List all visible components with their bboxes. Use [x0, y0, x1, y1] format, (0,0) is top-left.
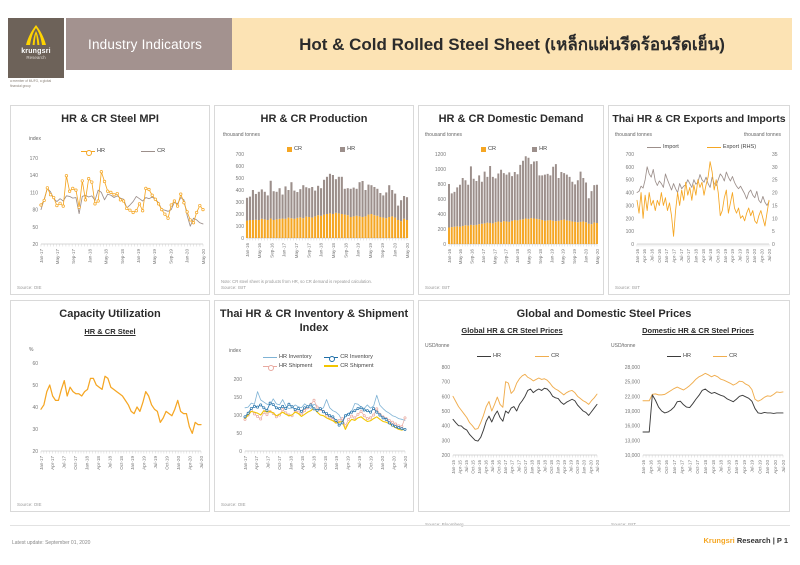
plot-area-capacity: 2030405060Jan-17Apr-17Jul-17Oct-17Jan-18… — [11, 301, 211, 513]
panel-prices: Global and Domestic Steel Prices Global … — [418, 300, 790, 512]
svg-text:500: 500 — [442, 409, 451, 415]
svg-text:Sep-16: Sep-16 — [269, 243, 274, 258]
svg-text:Jan-19: Jan-19 — [136, 249, 141, 263]
panel-mpi: HR & CR Steel MPI index HR CR 2050801101… — [10, 105, 210, 295]
svg-text:25,000: 25,000 — [625, 380, 641, 386]
svg-text:Oct-19: Oct-19 — [757, 460, 762, 474]
svg-text:Apr-18: Apr-18 — [711, 460, 716, 474]
svg-text:Jul-20: Jul-20 — [199, 456, 204, 469]
svg-text:30: 30 — [772, 165, 778, 171]
svg-text:Apr-18: Apr-18 — [300, 456, 305, 470]
svg-text:Jan-17: Jan-17 — [243, 456, 248, 470]
svg-text:Jan-19: Jan-19 — [356, 243, 361, 257]
svg-text:Jan-20: Jan-20 — [582, 460, 587, 474]
svg-text:Jul-20: Jul-20 — [767, 249, 772, 262]
svg-text:Jul-19: Jul-19 — [153, 456, 158, 469]
svg-text:Apr-18: Apr-18 — [701, 249, 706, 263]
svg-text:Jul-18: Jul-18 — [107, 456, 112, 469]
svg-text:Oct-17: Oct-17 — [695, 460, 700, 474]
panel-trade: Thai HR & CR Exports and Imports thousan… — [608, 105, 790, 295]
svg-text:May-20: May-20 — [201, 249, 206, 265]
svg-text:Sep-17: Sep-17 — [504, 249, 509, 264]
svg-text:Jan-16: Jan-16 — [641, 460, 646, 474]
section-label: Industry Indicators — [66, 18, 232, 70]
svg-text:Oct-19: Oct-19 — [165, 456, 170, 470]
source-trade: Source: ISIT — [615, 285, 640, 290]
svg-text:Apr-19: Apr-19 — [562, 460, 567, 474]
svg-text:Jan-19: Jan-19 — [334, 456, 339, 470]
svg-text:Apr-20: Apr-20 — [773, 460, 778, 474]
svg-text:600: 600 — [626, 165, 635, 171]
svg-text:Oct-15: Oct-15 — [470, 460, 475, 474]
svg-text:Apr-20: Apr-20 — [759, 249, 764, 263]
svg-text:80: 80 — [32, 208, 38, 214]
svg-text:50: 50 — [32, 225, 38, 231]
svg-text:May-20: May-20 — [405, 243, 410, 259]
plot-area-inventory: 050100150200Jan-17Apr-17Jul-17Oct-17Jan-… — [215, 301, 415, 513]
svg-text:600: 600 — [236, 164, 245, 170]
plot-area-production: 0100200300400500600700Jan-16May-16Sep-16… — [215, 106, 415, 296]
svg-text:100: 100 — [626, 229, 635, 235]
svg-text:Apr-18: Apr-18 — [536, 460, 541, 474]
svg-text:28,000: 28,000 — [625, 365, 641, 371]
svg-text:Jul-20: Jul-20 — [403, 456, 408, 469]
svg-text:19,000: 19,000 — [625, 409, 641, 415]
svg-text:Oct-18: Oct-18 — [323, 456, 328, 470]
svg-text:Jul-17: Jul-17 — [516, 460, 521, 473]
svg-text:Jan-18: Jan-18 — [289, 456, 294, 470]
svg-text:35: 35 — [772, 152, 778, 158]
svg-text:Jul-18: Jul-18 — [542, 460, 547, 473]
svg-text:Jul-17: Jul-17 — [679, 249, 684, 262]
svg-text:700: 700 — [442, 380, 451, 386]
svg-text:Oct-18: Oct-18 — [726, 460, 731, 474]
latest-update-text: Latest update: September 01, 2020 — [12, 540, 90, 546]
svg-text:25: 25 — [772, 178, 778, 184]
svg-text:20: 20 — [32, 242, 38, 248]
svg-text:Jan-17: Jan-17 — [481, 249, 486, 263]
svg-text:Apr-19: Apr-19 — [142, 456, 147, 470]
svg-text:500: 500 — [626, 178, 635, 184]
svg-text:150: 150 — [234, 395, 243, 401]
svg-text:May-20: May-20 — [595, 249, 600, 265]
svg-text:Jan-20: Jan-20 — [583, 249, 588, 263]
footer-brand: Krungsri Research | P 1 — [703, 536, 788, 545]
svg-text:Sep-18: Sep-18 — [120, 249, 125, 264]
svg-text:400: 400 — [236, 188, 245, 194]
svg-text:Oct-19: Oct-19 — [369, 456, 374, 470]
svg-text:Oct-16: Oct-16 — [657, 249, 662, 263]
svg-text:Oct-18: Oct-18 — [119, 456, 124, 470]
svg-text:Jan-19: Jan-19 — [130, 456, 135, 470]
svg-text:Jan-19: Jan-19 — [556, 460, 561, 474]
svg-text:Jan-20: Jan-20 — [176, 456, 181, 470]
svg-text:Jul-18: Jul-18 — [719, 460, 724, 473]
source-production: Source: ISIT — [221, 285, 246, 290]
svg-text:Oct-19: Oct-19 — [745, 249, 750, 263]
svg-text:20: 20 — [772, 191, 778, 197]
footer-brand-rest: Research | P 1 — [735, 536, 788, 545]
source-capacity: Source: OIE — [17, 502, 42, 507]
svg-text:1000: 1000 — [435, 167, 446, 173]
svg-text:Oct-19: Oct-19 — [575, 460, 580, 474]
svg-text:Jul-15: Jul-15 — [464, 460, 469, 473]
svg-text:Jan-17: Jan-17 — [39, 456, 44, 470]
svg-text:800: 800 — [438, 182, 447, 188]
svg-text:Sep-17: Sep-17 — [306, 243, 311, 258]
svg-text:Jan-17: Jan-17 — [672, 460, 677, 474]
panel-demand: HR & CR Domestic Demand thousand tonnes … — [418, 105, 604, 295]
svg-text:Oct-18: Oct-18 — [715, 249, 720, 263]
svg-text:Oct-18: Oct-18 — [549, 460, 554, 474]
svg-text:Apr-18: Apr-18 — [96, 456, 101, 470]
svg-text:Apr-19: Apr-19 — [346, 456, 351, 470]
svg-text:Jan-16: Jan-16 — [447, 249, 452, 263]
svg-text:Jul-17: Jul-17 — [266, 456, 271, 469]
svg-text:May-18: May-18 — [104, 249, 109, 265]
svg-text:Apr-20: Apr-20 — [588, 460, 593, 474]
svg-text:13,000: 13,000 — [625, 438, 641, 444]
svg-text:Jan-20: Jan-20 — [185, 249, 190, 263]
svg-text:Jan-16: Jan-16 — [245, 243, 250, 257]
plot-area-trade: 010020030040050060070005101520253035Jan-… — [609, 106, 791, 296]
svg-text:Apr-17: Apr-17 — [680, 460, 685, 474]
source-inventory: Source: OIE — [221, 502, 246, 507]
panel-capacity: Capacity Utilization HR & CR Steel % 203… — [10, 300, 210, 512]
svg-text:Jan-18: Jan-18 — [703, 460, 708, 474]
svg-text:Oct-17: Oct-17 — [686, 249, 691, 263]
svg-text:Jul-18: Jul-18 — [311, 456, 316, 469]
svg-text:0: 0 — [772, 242, 775, 248]
svg-text:Apr-20: Apr-20 — [187, 456, 192, 470]
svg-text:Sep-19: Sep-19 — [168, 249, 173, 264]
svg-text:800: 800 — [442, 365, 451, 371]
plot-area-domestic-prices: 10,00013,00016,00019,00022,00025,00028,0… — [605, 321, 791, 513]
svg-text:Oct-17: Oct-17 — [73, 456, 78, 470]
svg-text:May-19: May-19 — [368, 243, 373, 259]
svg-text:Jan-18: Jan-18 — [87, 249, 92, 263]
svg-text:16,000: 16,000 — [625, 424, 641, 430]
svg-text:200: 200 — [438, 227, 447, 233]
svg-text:600: 600 — [442, 394, 451, 400]
svg-text:22,000: 22,000 — [625, 394, 641, 400]
svg-text:Oct-16: Oct-16 — [664, 460, 669, 474]
svg-text:200: 200 — [236, 212, 245, 218]
footer-divider — [10, 525, 790, 526]
svg-text:Jan-17: Jan-17 — [664, 249, 669, 263]
svg-text:15: 15 — [772, 203, 778, 209]
source-demand: Source: ISIT — [425, 285, 450, 290]
svg-text:20: 20 — [32, 449, 38, 455]
svg-text:Jul-18: Jul-18 — [708, 249, 713, 262]
svg-text:Apr-17: Apr-17 — [50, 456, 55, 470]
svg-text:Jan-17: Jan-17 — [39, 249, 44, 263]
krungsri-logo: krungsri Research — [8, 18, 64, 78]
page-header: krungsri Research a member of MUFG, a gl… — [0, 18, 800, 76]
svg-text:40: 40 — [32, 405, 38, 411]
svg-text:Jan-17: Jan-17 — [503, 460, 508, 474]
logo-wordmark: krungsri — [21, 48, 51, 55]
svg-text:Jul-17: Jul-17 — [687, 460, 692, 473]
subpanel-domestic-prices: Domestic HR & CR Steel Prices USD/tonne … — [605, 321, 791, 513]
svg-text:100: 100 — [234, 413, 243, 419]
svg-text:Jan-18: Jan-18 — [515, 249, 520, 263]
svg-text:300: 300 — [236, 200, 245, 206]
svg-text:Jan-18: Jan-18 — [319, 243, 324, 257]
svg-text:Jan-19: Jan-19 — [734, 460, 739, 474]
svg-text:10,000: 10,000 — [625, 453, 641, 459]
krungsri-mark-icon — [23, 24, 49, 46]
svg-text:Apr-20: Apr-20 — [391, 456, 396, 470]
svg-text:Sep-16: Sep-16 — [470, 249, 475, 264]
panel-inventory: Thai HR & CR Inventory & Shipment Index … — [214, 300, 414, 512]
note-production: Note: CR steel sheet is products from HR… — [221, 279, 372, 284]
svg-text:Sep-19: Sep-19 — [572, 249, 577, 264]
logo-affiliation: a member of MUFG, a global financial gro… — [8, 78, 64, 92]
chart-title-prices: Global and Domestic Steel Prices — [419, 308, 789, 322]
subpanel-global-prices: Global HR & CR Steel Prices USD/tonne HR… — [419, 321, 605, 513]
svg-text:600: 600 — [438, 197, 447, 203]
svg-text:400: 400 — [438, 212, 447, 218]
svg-text:Jan-18: Jan-18 — [85, 456, 90, 470]
svg-text:May-18: May-18 — [331, 243, 336, 259]
svg-text:Oct-17: Oct-17 — [277, 456, 282, 470]
svg-text:50: 50 — [32, 383, 38, 389]
svg-text:Apr-15: Apr-15 — [457, 460, 462, 474]
svg-text:Jul-20: Jul-20 — [595, 460, 600, 473]
svg-text:May-17: May-17 — [55, 249, 60, 265]
plot-area-global-prices: 200300400500600700800Jan-15Apr-15Jul-15O… — [419, 321, 605, 513]
svg-text:30: 30 — [32, 427, 38, 433]
svg-text:Apr-17: Apr-17 — [510, 460, 515, 474]
svg-text:Jul-17: Jul-17 — [62, 456, 67, 469]
svg-text:700: 700 — [236, 152, 245, 158]
svg-text:Jan-16: Jan-16 — [477, 460, 482, 474]
svg-text:Apr-17: Apr-17 — [671, 249, 676, 263]
svg-text:Jul-20: Jul-20 — [781, 460, 786, 473]
svg-text:5: 5 — [772, 229, 775, 235]
svg-text:1200: 1200 — [435, 152, 446, 158]
svg-text:500: 500 — [236, 176, 245, 182]
svg-text:May-16: May-16 — [257, 243, 262, 259]
svg-text:May-19: May-19 — [561, 249, 566, 265]
svg-text:Jul-16: Jul-16 — [649, 249, 654, 262]
svg-text:Jan-19: Jan-19 — [723, 249, 728, 263]
svg-text:Jan-18: Jan-18 — [529, 460, 534, 474]
page-title: Hot & Cold Rolled Steel Sheet (เหล็กแผ่น… — [232, 18, 792, 70]
svg-text:May-16: May-16 — [458, 249, 463, 265]
svg-text:May-17: May-17 — [294, 243, 299, 259]
svg-text:0: 0 — [239, 449, 242, 455]
svg-text:400: 400 — [442, 424, 451, 430]
svg-text:200: 200 — [442, 453, 451, 459]
svg-text:Sep-18: Sep-18 — [343, 243, 348, 258]
plot-area-demand: 020040060080010001200Jan-16May-16Sep-16J… — [419, 106, 605, 296]
svg-text:Apr-16: Apr-16 — [642, 249, 647, 263]
svg-text:Jul-19: Jul-19 — [569, 460, 574, 473]
footer-brand-krungsri: Krungsri — [703, 536, 734, 545]
svg-text:Jan-20: Jan-20 — [765, 460, 770, 474]
svg-text:Sep-17: Sep-17 — [71, 249, 76, 264]
svg-text:200: 200 — [626, 216, 635, 222]
svg-text:60: 60 — [32, 361, 38, 367]
svg-text:Sep-18: Sep-18 — [538, 249, 543, 264]
svg-text:0: 0 — [241, 236, 244, 242]
svg-text:Jul-16: Jul-16 — [656, 460, 661, 473]
svg-text:50: 50 — [236, 431, 242, 437]
svg-text:Jan-19: Jan-19 — [549, 249, 554, 263]
svg-text:200: 200 — [234, 377, 243, 383]
logo-subtitle: Research — [26, 55, 45, 60]
svg-text:0: 0 — [631, 242, 634, 248]
svg-text:Jul-19: Jul-19 — [750, 460, 755, 473]
svg-text:Oct-17: Oct-17 — [523, 460, 528, 474]
svg-text:300: 300 — [626, 203, 635, 209]
svg-text:Apr-16: Apr-16 — [484, 460, 489, 474]
svg-text:May-19: May-19 — [152, 249, 157, 265]
svg-text:Sep-19: Sep-19 — [380, 243, 385, 258]
source-mpi: Source: OIE — [17, 285, 42, 290]
svg-text:Apr-17: Apr-17 — [254, 456, 259, 470]
svg-text:300: 300 — [442, 438, 451, 444]
svg-text:10: 10 — [772, 216, 778, 222]
svg-text:700: 700 — [626, 152, 635, 158]
svg-text:Jul-16: Jul-16 — [490, 460, 495, 473]
svg-text:0: 0 — [443, 242, 446, 248]
svg-text:Jul-19: Jul-19 — [357, 456, 362, 469]
svg-text:Jan-15: Jan-15 — [451, 460, 456, 474]
svg-text:Apr-19: Apr-19 — [742, 460, 747, 474]
svg-text:140: 140 — [30, 173, 39, 179]
svg-text:May-18: May-18 — [526, 249, 531, 265]
svg-text:Jan-17: Jan-17 — [282, 243, 287, 257]
svg-text:110: 110 — [30, 190, 38, 196]
svg-text:Jan-20: Jan-20 — [392, 243, 397, 257]
svg-text:Apr-16: Apr-16 — [649, 460, 654, 474]
svg-text:Oct-16: Oct-16 — [497, 460, 502, 474]
svg-text:Apr-19: Apr-19 — [730, 249, 735, 263]
svg-text:Jan-18: Jan-18 — [693, 249, 698, 263]
svg-text:Jan-20: Jan-20 — [752, 249, 757, 263]
svg-text:Jan-16: Jan-16 — [635, 249, 640, 263]
svg-text:Jul-19: Jul-19 — [737, 249, 742, 262]
svg-text:170: 170 — [30, 156, 39, 162]
svg-text:Jan-20: Jan-20 — [380, 456, 385, 470]
panel-production: HR & CR Production thousand tonnes CR HR… — [214, 105, 414, 295]
plot-area-mpi: 205080110140170Jan-17May-17Sep-17Jan-18M… — [11, 106, 211, 296]
svg-text:100: 100 — [236, 224, 245, 230]
svg-text:May-17: May-17 — [492, 249, 497, 265]
svg-text:400: 400 — [626, 191, 635, 197]
